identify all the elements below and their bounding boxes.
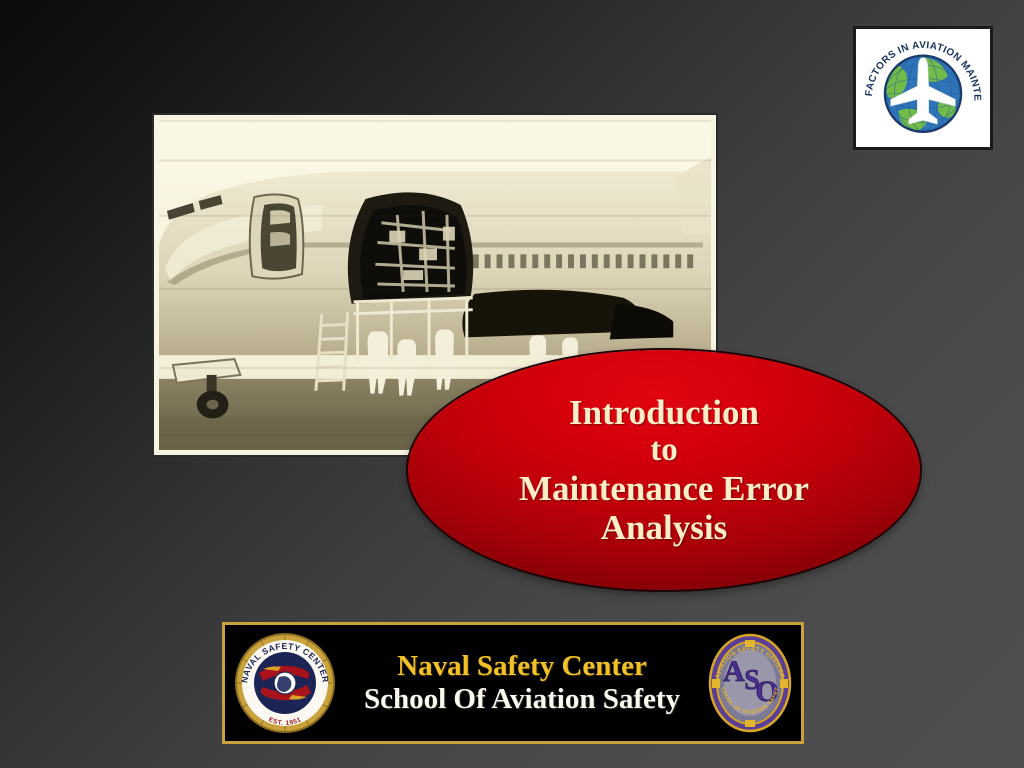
title-line-3: Maintenance Error <box>519 469 809 508</box>
title-line-1: Introduction <box>569 393 759 432</box>
title-line-2: to <box>650 432 678 469</box>
naval-safety-center-seal: NAVAL SAFETY CENTER EST. 1951 <box>233 631 337 735</box>
bottom-banner: NAVAL SAFETY CENTER EST. 1951 Naval Safe… <box>222 622 804 744</box>
aviation-safety-officer-seal: A S O AVIATION SAFETY OFFICER SCHOOL OF … <box>707 631 793 735</box>
banner-text-block: Naval Safety Center School Of Aviation S… <box>337 650 707 717</box>
title-oval: Introduction to Maintenance Error Analys… <box>408 350 920 590</box>
school-name: School Of Aviation Safety <box>341 683 703 716</box>
presentation-slide: HUMAN FACTORS IN AVIATION MAINTENANCE <box>0 0 1024 768</box>
human-factors-in-aviation-maintenance-logo: HUMAN FACTORS IN AVIATION MAINTENANCE <box>853 26 993 150</box>
title-line-4: Analysis <box>601 508 727 547</box>
organization-name: Naval Safety Center <box>341 650 703 683</box>
